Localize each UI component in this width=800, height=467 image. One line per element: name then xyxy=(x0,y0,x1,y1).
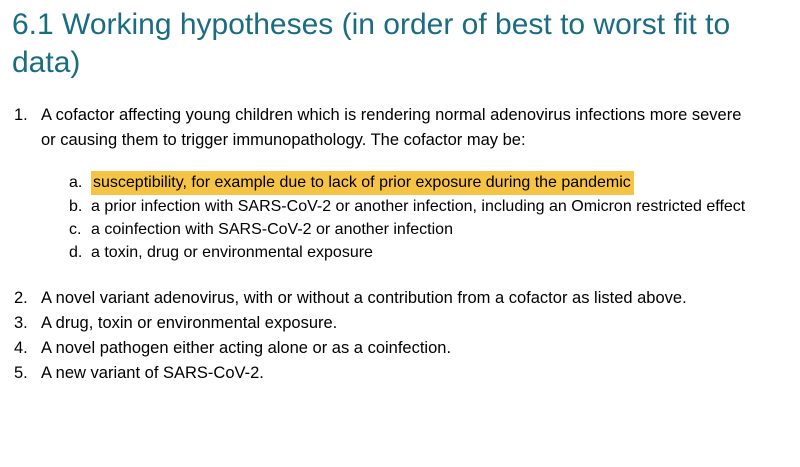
list-item-text: A drug, toxin or environmental exposure. xyxy=(41,311,800,336)
list-item: 1. A cofactor affecting young children w… xyxy=(0,103,800,153)
list-marker: 1. xyxy=(14,103,38,128)
slide-canvas: 6.1 Working hypotheses (in order of best… xyxy=(0,0,800,467)
sub-list-marker: d. xyxy=(69,241,89,264)
list-marker: 2. xyxy=(14,286,38,311)
sub-list-marker: a. xyxy=(69,171,89,194)
list-item-text: A novel pathogen either acting alone or … xyxy=(41,336,800,361)
list-item: 4. A novel pathogen either acting alone … xyxy=(0,336,800,361)
sub-list-item-text-wrapper: susceptibility, for example due to lack … xyxy=(91,171,800,195)
page-title: 6.1 Working hypotheses (in order of best… xyxy=(12,6,792,82)
list-item: 3. A drug, toxin or environmental exposu… xyxy=(0,311,800,336)
sub-list-marker: b. xyxy=(69,195,89,218)
sub-list-item-d: d. a toxin, drug or environmental exposu… xyxy=(0,241,800,264)
list-item-text: A novel variant adenovirus, with or with… xyxy=(41,286,800,311)
list-marker: 5. xyxy=(14,361,38,386)
highlighted-text: susceptibility, for example due to lack … xyxy=(91,171,634,195)
hypotheses-list: 1. A cofactor affecting young children w… xyxy=(0,103,800,386)
sub-list-item-text: a toxin, drug or environmental exposure xyxy=(91,241,800,264)
sub-list-item-text: a prior infection with SARS-CoV-2 or ano… xyxy=(91,195,800,218)
list-marker: 4. xyxy=(14,336,38,361)
list-item-text: A cofactor affecting young children whic… xyxy=(41,103,800,153)
list-item: 5. A new variant of SARS-CoV-2. xyxy=(0,361,800,386)
sub-list: a. susceptibility, for example due to la… xyxy=(0,171,800,264)
sub-list-item-c: c. a coinfection with SARS-CoV-2 or anot… xyxy=(0,218,800,241)
list-item-text: A new variant of SARS-CoV-2. xyxy=(41,361,800,386)
list-marker: 3. xyxy=(14,311,38,336)
list-item: 2. A novel variant adenovirus, with or w… xyxy=(0,286,800,311)
sub-list-marker: c. xyxy=(69,218,89,241)
sub-list-item-b: b. a prior infection with SARS-CoV-2 or … xyxy=(0,195,800,218)
sub-list-item-text: a coinfection with SARS-CoV-2 or another… xyxy=(91,218,800,241)
sub-list-item-a: a. susceptibility, for example due to la… xyxy=(0,171,800,195)
